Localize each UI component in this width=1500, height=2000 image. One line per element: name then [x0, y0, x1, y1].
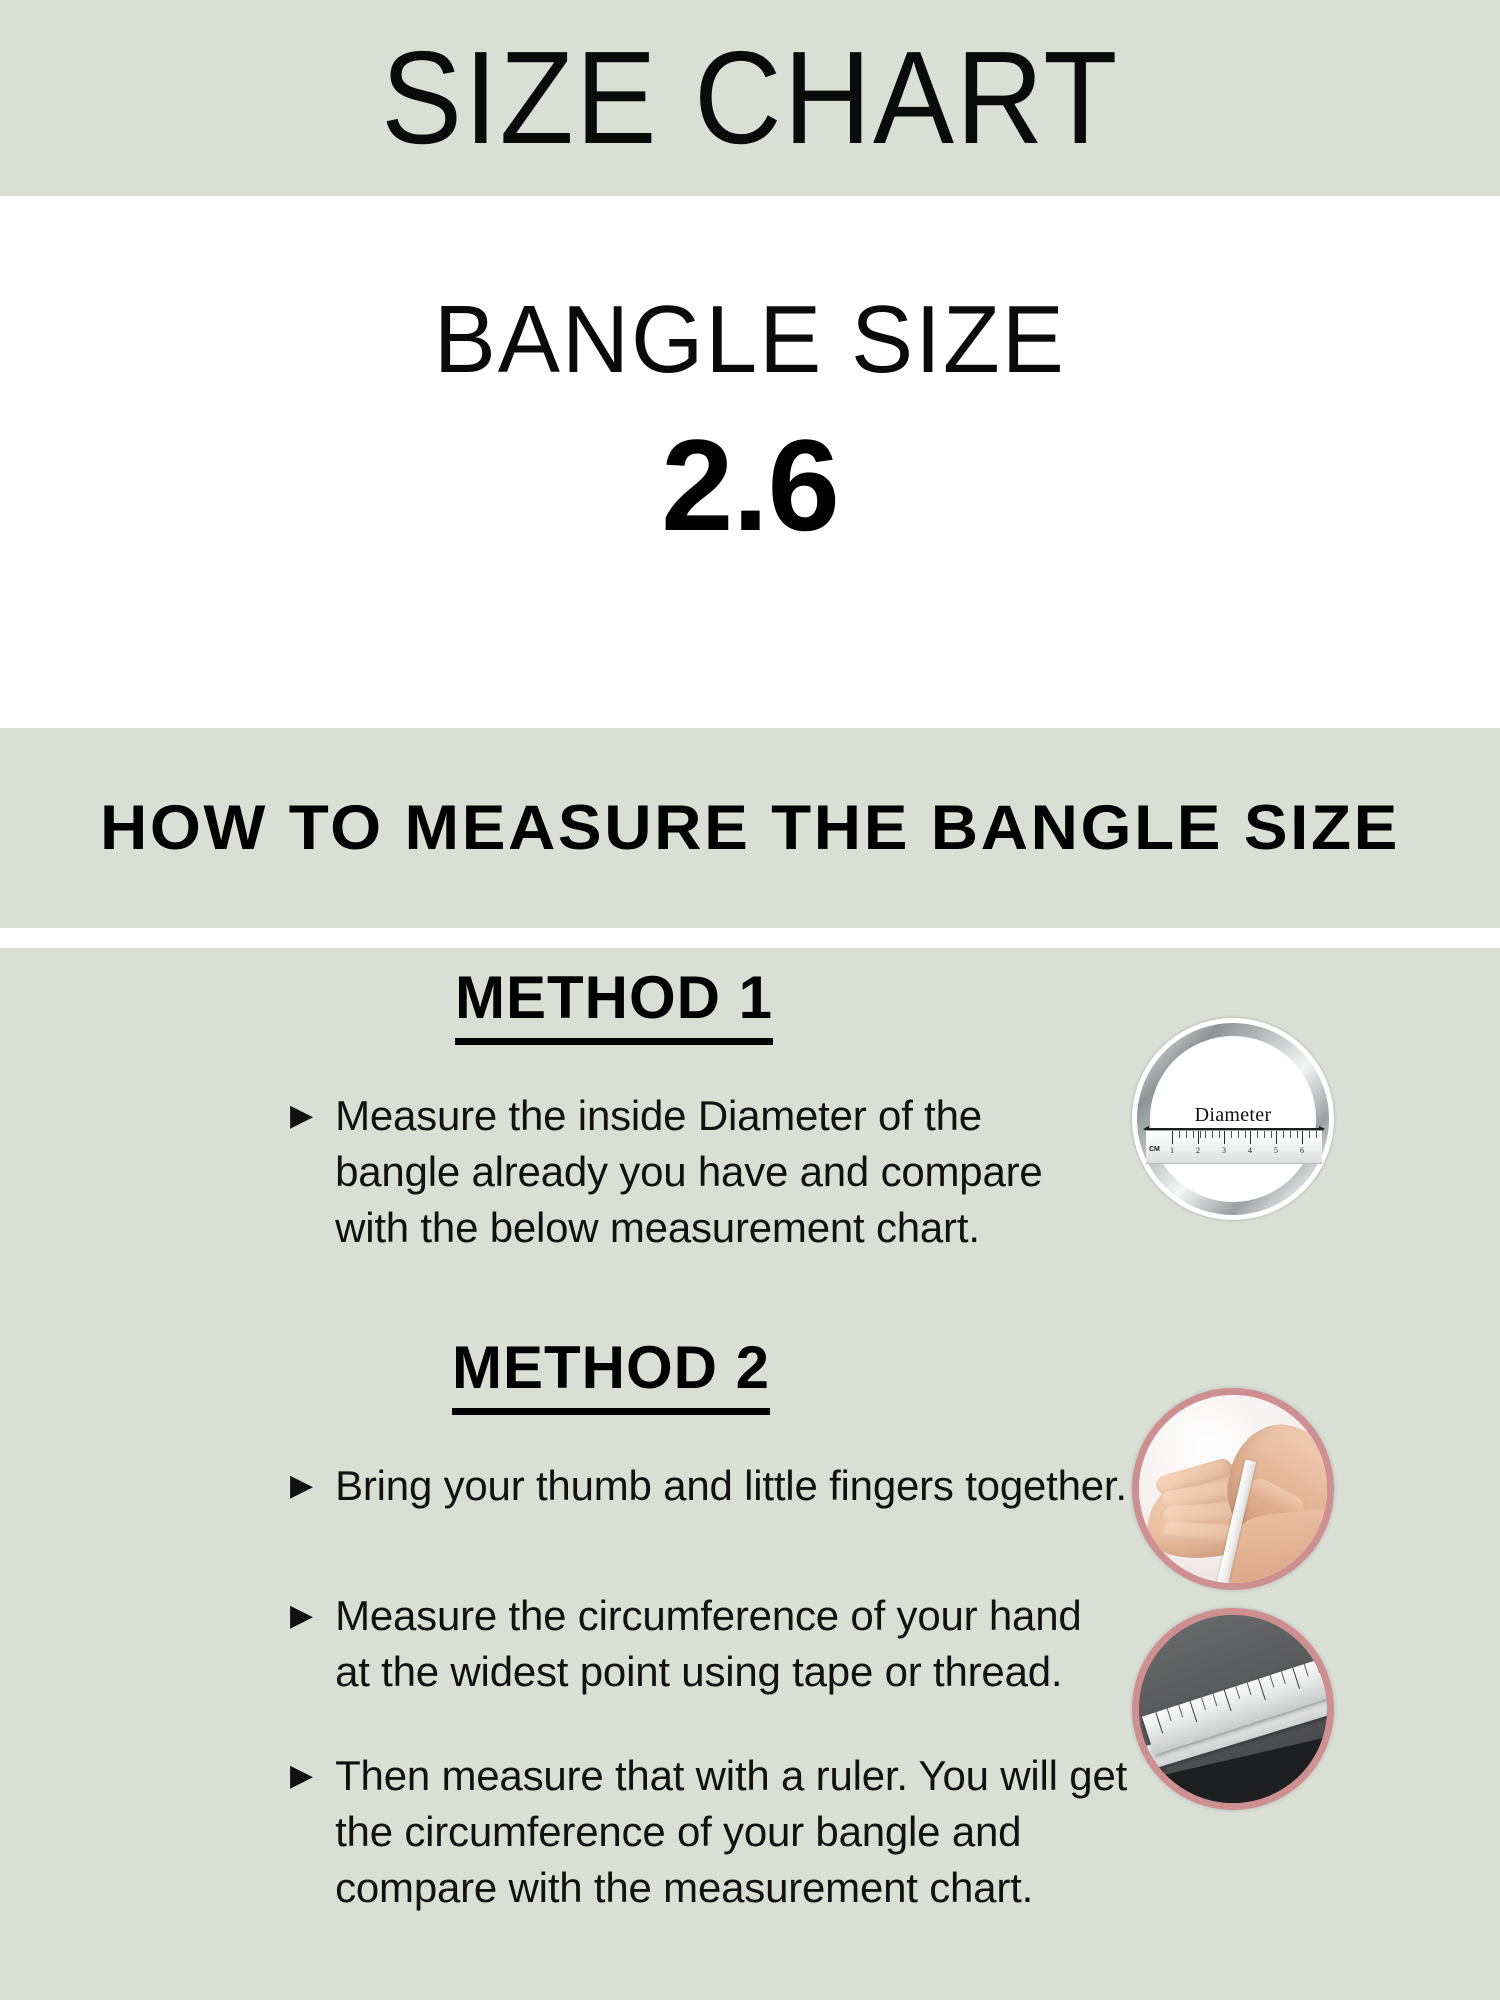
bullet-line: at the widest point using tape or thread… — [335, 1644, 1081, 1700]
ruler-number: 5 — [1274, 1146, 1278, 1155]
ruler-number: 3 — [1222, 1146, 1226, 1155]
method-2-bullet-2-text: Measure the circumference of your hand a… — [335, 1588, 1081, 1700]
bullet-line: bangle already you have and compare — [335, 1144, 1043, 1200]
bangle-diameter-illustration: Diameter CM 1 — [1132, 1018, 1334, 1220]
ruler-unit-label: CM — [1149, 1146, 1160, 1153]
bullet-line: Bring your thumb and little fingers toge… — [335, 1458, 1095, 1514]
size-chart-header-band: SIZE CHART — [0, 0, 1500, 196]
diameter-caption: Diameter — [1132, 1104, 1334, 1127]
methods-section: METHOD 1 ▶ Measure the inside Diameter o… — [0, 948, 1500, 2000]
how-to-measure-band: HOW TO MEASURE THE BANGLE SIZE — [0, 728, 1500, 928]
bullet-line: compare with the measurement chart. — [335, 1860, 1095, 1916]
method-1-bullet-1: ▶ Measure the inside Diameter of the ban… — [290, 1088, 1043, 1256]
triangle-bullet-icon: ▶ — [290, 1748, 313, 1804]
ruler-icon: CM 1 2 3 4 — [1146, 1130, 1322, 1164]
method-2-bullet-2: ▶ Measure the circumference of your hand… — [290, 1588, 1082, 1700]
ruler-number: 6 — [1300, 1146, 1304, 1155]
bullet-line: Then measure that with a ruler. You will… — [335, 1748, 1095, 1804]
method-2-heading: METHOD 2 — [452, 1338, 770, 1415]
ruler-number: 1 — [1170, 1146, 1174, 1155]
size-chart-page: SIZE CHART BANGLE SIZE 2.6 HOW TO MEASUR… — [0, 0, 1500, 2000]
method-2-bullet-3: ▶ Then measure that with a ruler. You wi… — [290, 1748, 1095, 1916]
section-divider — [0, 928, 1500, 948]
triangle-bullet-icon: ▶ — [290, 1588, 313, 1644]
bullet-line: Measure the inside Diameter of the — [335, 1088, 1043, 1144]
how-to-measure-title: HOW TO MEASURE THE BANGLE SIZE — [100, 797, 1400, 860]
triangle-bullet-icon: ▶ — [290, 1088, 313, 1144]
ruler-number: 4 — [1248, 1146, 1252, 1155]
bangle-size-value: 2.6 — [661, 420, 839, 550]
method-2-bullet-1-text: Bring your thumb and little fingers toge… — [335, 1458, 1095, 1514]
ruler-number: 2 — [1196, 1146, 1200, 1155]
bullet-line: the circumference of your bangle and — [335, 1804, 1095, 1860]
bangle-size-section: BANGLE SIZE 2.6 — [0, 196, 1500, 728]
hands-measuring-photo — [1132, 1388, 1334, 1590]
triangle-bullet-icon: ▶ — [290, 1458, 313, 1514]
page-title: SIZE CHART — [381, 32, 1119, 164]
ruler-measuring-photo: CM — [1132, 1608, 1334, 1810]
method-2-bullet-1: ▶ Bring your thumb and little fingers to… — [290, 1458, 1095, 1514]
method-2-bullet-3-text: Then measure that with a ruler. You will… — [335, 1748, 1095, 1916]
method-1-heading: METHOD 1 — [455, 968, 773, 1045]
bullet-line: with the below measurement chart. — [335, 1200, 1043, 1256]
method-1-bullet-1-text: Measure the inside Diameter of the bangl… — [335, 1088, 1043, 1256]
bangle-size-label: BANGLE SIZE — [434, 292, 1066, 388]
bullet-line: Measure the circumference of your hand — [335, 1588, 1081, 1644]
